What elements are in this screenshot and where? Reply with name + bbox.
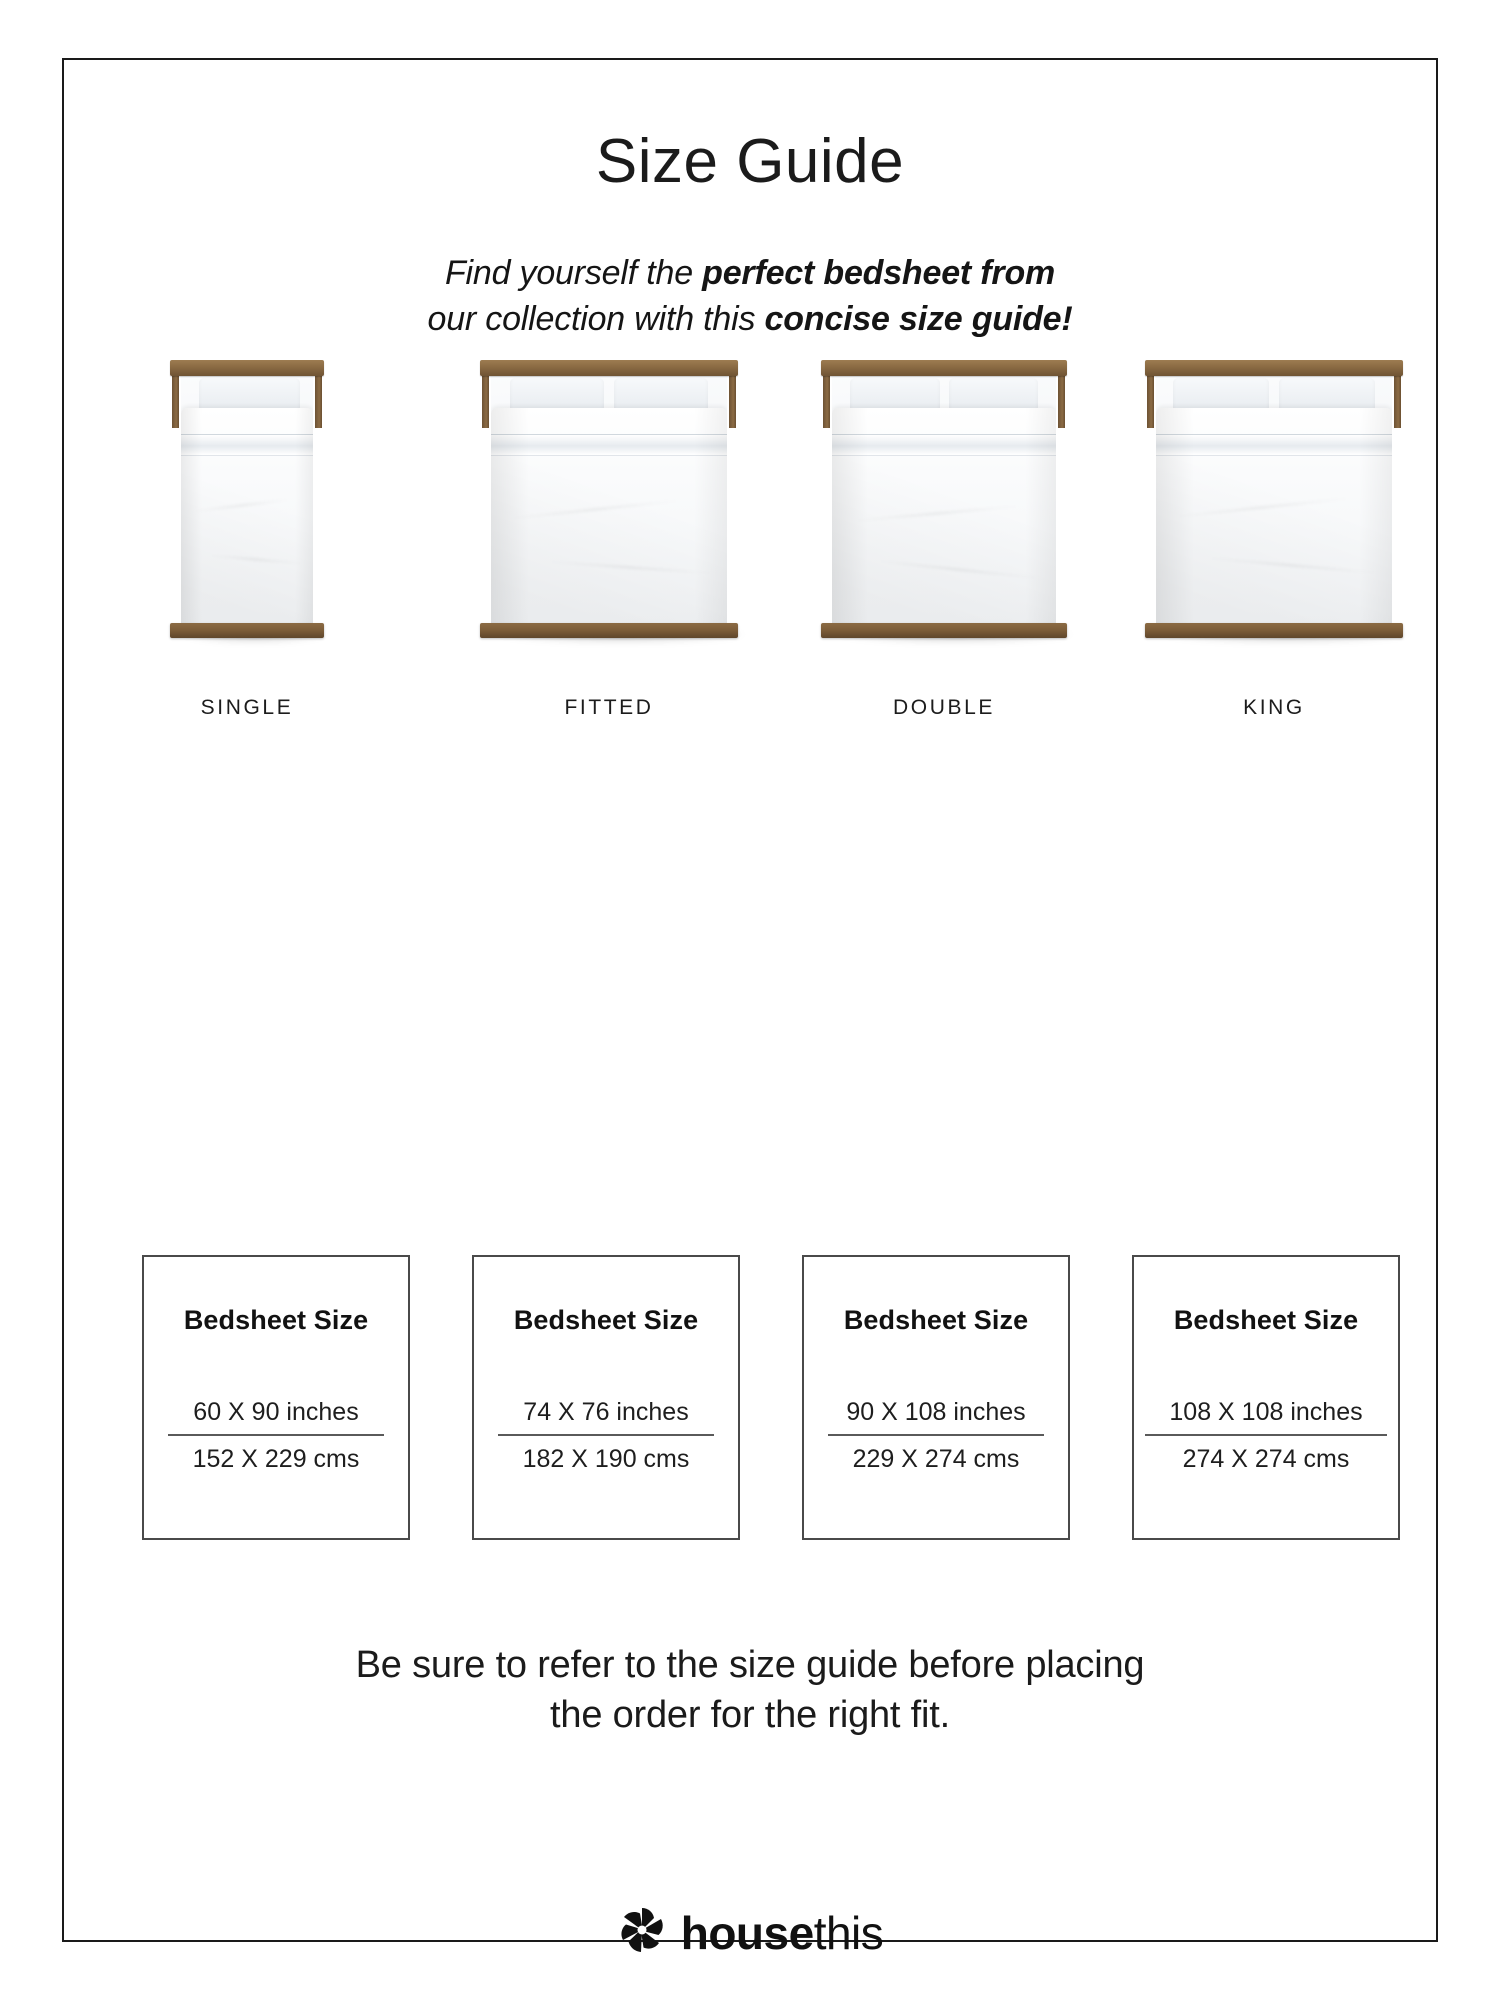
bed-illustrations-row: SINGLE [104,420,1396,720]
brand-logo-bold: house [681,1907,814,1959]
bed-cell-fitted: FITTED [484,360,734,720]
bed-crease [510,499,679,520]
bed-duvet [491,408,727,626]
bed-post-left [172,370,179,428]
size-value-cms: 152 X 229 cms [168,1436,384,1474]
size-box-title: Bedsheet Size [184,1305,368,1336]
bed-crease [855,505,1020,522]
bed-illustration-king [1150,360,1398,638]
bed-duvet [832,408,1056,626]
subtitle-line-1-plain: Find yourself the [445,254,702,292]
bed-footboard-rail [1145,623,1403,638]
size-box-title: Bedsheet Size [1174,1305,1358,1336]
size-box-values: 74 X 76 inches 182 X 190 cms [498,1398,714,1474]
subtitle-line-2-plain: our collection with this [427,300,764,338]
page-frame: Size Guide Find yourself the perfect bed… [62,58,1438,1942]
size-box-values: 60 X 90 inches 152 X 229 cms [168,1398,384,1474]
size-value-cms: 274 X 274 cms [1145,1436,1388,1474]
size-box-fitted: Bedsheet Size 74 X 76 inches 182 X 190 c… [472,1255,740,1540]
bed-mattress [1156,374,1392,626]
bed-crease [194,498,289,513]
bed-footboard-rail [821,623,1067,638]
bed-mattress [491,374,727,626]
bed-headboard-rail [1145,360,1403,376]
bed-crease [548,560,713,575]
bed-headboard-rail [170,360,324,376]
bed-footboard-rail [170,623,324,638]
footer-note-line-2: the order for the right fit. [64,1690,1436,1740]
bed-post-right [729,370,736,428]
bed-label-single: SINGLE [201,696,294,720]
bed-post-left [1147,370,1154,428]
bed-post-right [1394,370,1401,428]
bed-crease [1208,557,1378,575]
subtitle-line-2-bold: concise size guide! [765,300,1073,338]
brand-logo-regular: this [814,1907,884,1959]
bed-illustration-single [175,360,319,638]
footer-note: Be sure to refer to the size guide befor… [64,1640,1436,1740]
bed-shading-right [694,408,727,626]
bed-mattress [832,374,1056,626]
subtitle-line-1-bold: perfect bedsheet from [702,254,1055,292]
pinwheel-flower-icon [617,1905,667,1960]
brand-logo-text: housethis [681,1910,884,1956]
size-guide-page: Size Guide Find yourself the perfect bed… [0,0,1500,2000]
bed-label-double: DOUBLE [893,696,995,720]
bed-illustration-fitted [485,360,733,638]
bed-shading-left [832,408,868,626]
size-box-title: Bedsheet Size [844,1305,1028,1336]
bed-post-left [482,370,489,428]
bed-shading-right [1359,408,1392,626]
subtitle-line-1: Find yourself the perfect bedsheet from [64,250,1436,296]
size-box-double: Bedsheet Size 90 X 108 inches 229 X 274 … [802,1255,1070,1540]
bed-duvet [181,408,313,626]
bed-label-king: KING [1243,696,1305,720]
size-box-values: 108 X 108 inches 274 X 274 cms [1145,1398,1388,1474]
bed-crease [877,560,1038,580]
size-box-title: Bedsheet Size [514,1305,698,1336]
size-value-cms: 229 X 274 cms [828,1436,1044,1474]
page-title: Size Guide [64,126,1436,197]
subtitle-line-2: our collection with this concise size gu… [64,296,1436,342]
bed-shading-right [295,408,313,626]
brand-logo: housethis [64,1905,1436,1960]
bed-shading-left [1156,408,1194,626]
bed-crease [210,554,302,565]
size-value-inches: 90 X 108 inches [828,1398,1044,1436]
size-box-king: Bedsheet Size 108 X 108 inches 274 X 274… [1132,1255,1400,1540]
size-value-inches: 60 X 90 inches [168,1398,384,1436]
bed-duvet [1156,408,1392,626]
size-value-cms: 182 X 190 cms [498,1436,714,1474]
bed-crease [1175,497,1349,518]
size-box-values: 90 X 108 inches 229 X 274 cms [828,1398,1044,1474]
page-subtitle: Find yourself the perfect bedsheet from … [64,250,1436,342]
size-value-inches: 74 X 76 inches [498,1398,714,1436]
bed-mattress [181,374,313,626]
bed-illustration-double [826,360,1062,638]
bed-post-right [315,370,322,428]
bed-post-left [823,370,830,428]
bed-shading-left [181,408,202,626]
bed-post-right [1058,370,1065,428]
bed-cell-king: KING [1149,360,1399,720]
bed-label-fitted: FITTED [564,696,653,720]
bed-cell-single: SINGLE [152,360,342,720]
size-boxes-row: Bedsheet Size 60 X 90 inches 152 X 229 c… [104,1255,1396,1555]
size-box-single: Bedsheet Size 60 X 90 inches 152 X 229 c… [142,1255,410,1540]
bed-shading-right [1025,408,1056,626]
bed-cell-double: DOUBLE [819,360,1069,720]
bed-shading-left [491,408,529,626]
bed-headboard-rail [480,360,738,376]
bed-footboard-rail [480,623,738,638]
footer-note-line-1: Be sure to refer to the size guide befor… [64,1640,1436,1690]
size-value-inches: 108 X 108 inches [1145,1398,1388,1436]
bed-headboard-rail [821,360,1067,376]
